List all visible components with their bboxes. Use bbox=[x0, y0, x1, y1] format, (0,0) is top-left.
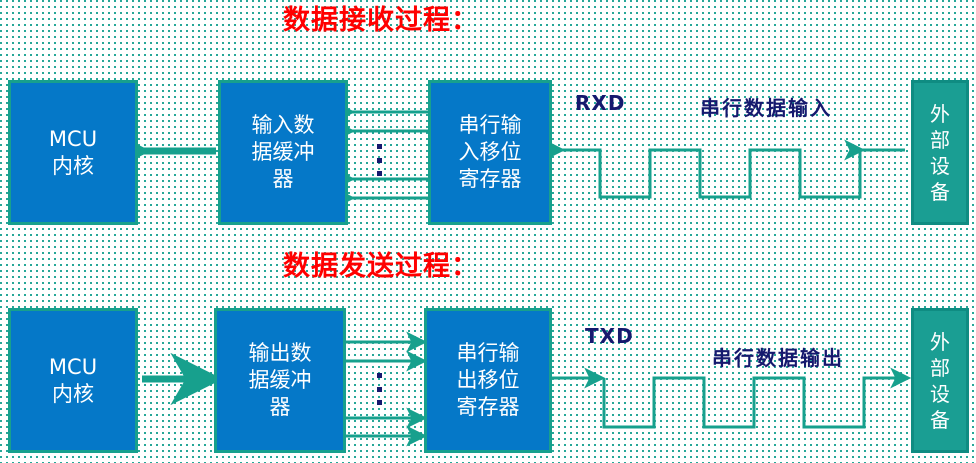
block-label: 外 部 设 备 bbox=[930, 101, 950, 205]
dot bbox=[377, 144, 382, 149]
ellipsis-receive bbox=[376, 144, 382, 176]
block-label: MCU 内核 bbox=[11, 354, 135, 408]
block-output-data-buffer: 输出数 据缓冲 器 bbox=[214, 308, 346, 453]
ellipsis-transmit bbox=[376, 373, 382, 405]
dot bbox=[377, 400, 382, 405]
block-serial-output-shift-register: 串行输 出移位 寄存器 bbox=[424, 308, 552, 453]
dot bbox=[377, 387, 382, 392]
diagram-canvas: 数据接收过程： MCU 内核 输入数 据缓冲 器 串行输 入移位 寄存器 RXD… bbox=[0, 0, 976, 463]
arrows-shiftreg-to-buffer-top bbox=[352, 112, 428, 198]
block-label: 输出数 据缓冲 器 bbox=[217, 340, 343, 421]
flow-label-serial-data-out: 串行数据输出 bbox=[712, 342, 844, 371]
block-external-device-transmit: 外 部 设 备 bbox=[911, 308, 969, 453]
flow-label-serial-data-in: 串行数据输入 bbox=[700, 92, 832, 121]
block-mcu-core-transmit: MCU 内核 bbox=[8, 308, 138, 453]
waveform-txd bbox=[552, 378, 908, 427]
signal-label-txd: TXD bbox=[585, 324, 634, 348]
waveform-rxd bbox=[562, 150, 905, 197]
block-serial-input-shift-register: 串行输 入移位 寄存器 bbox=[428, 80, 552, 225]
block-input-data-buffer: 输入数 据缓冲 器 bbox=[218, 80, 348, 225]
section-title-transmit: 数据发送过程： bbox=[283, 252, 479, 282]
block-mcu-core-receive: MCU 内核 bbox=[8, 80, 138, 225]
signal-label-rxd: RXD bbox=[575, 91, 625, 115]
block-label: 串行输 出移位 寄存器 bbox=[427, 340, 549, 421]
block-label: 串行输 入移位 寄存器 bbox=[431, 112, 549, 193]
arrows-buffer-to-shiftreg-bottom bbox=[346, 342, 424, 436]
block-label: MCU 内核 bbox=[11, 126, 135, 180]
block-label: 外 部 设 备 bbox=[930, 329, 950, 433]
dot bbox=[377, 171, 382, 176]
block-label: 输入数 据缓冲 器 bbox=[221, 112, 345, 193]
section-title-receive: 数据接收过程： bbox=[283, 6, 479, 36]
block-external-device-receive: 外 部 设 备 bbox=[911, 80, 969, 225]
dot bbox=[377, 373, 382, 378]
dot bbox=[377, 158, 382, 163]
